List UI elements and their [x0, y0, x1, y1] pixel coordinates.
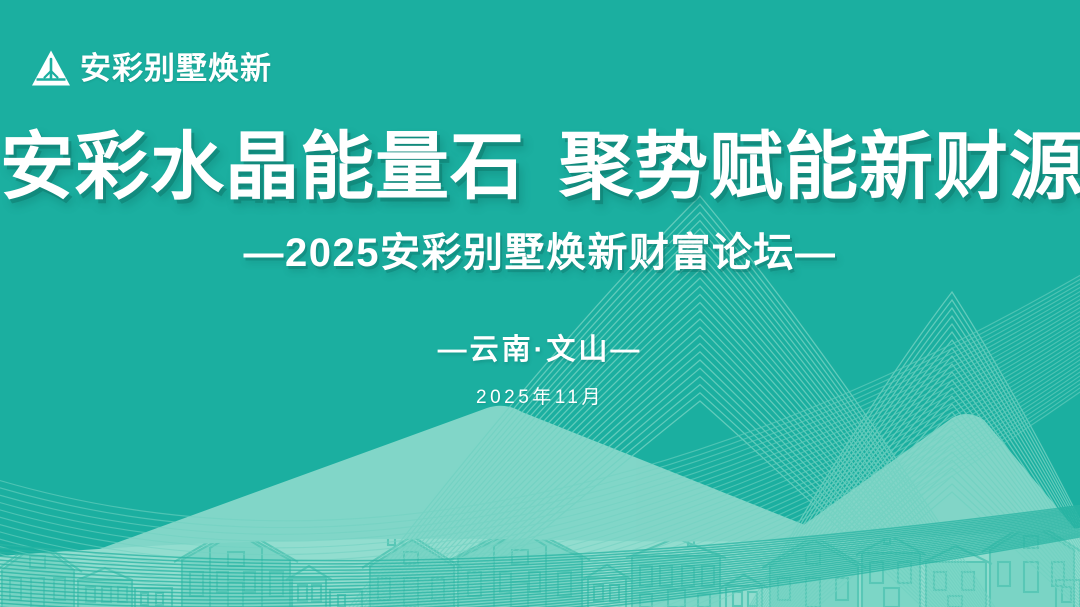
page-title: 安彩水晶能量石聚势赋能新财源	[0, 128, 1080, 206]
solid-mountain-shapes	[0, 406, 1080, 607]
brand-logo-text: 安彩别墅焕新	[80, 53, 272, 84]
bottom-light-band	[0, 528, 1080, 607]
poster-date: 2025年11月	[0, 382, 1080, 409]
brand-logo[interactable]: 安彩别墅焕新	[31, 49, 272, 87]
house-silhouette	[1056, 580, 1080, 607]
triangle-mountain-mark-icon	[31, 49, 71, 87]
house-silhouette	[582, 565, 632, 607]
house-silhouette	[920, 546, 992, 607]
headline-part-1: 安彩水晶能量石	[0, 125, 525, 208]
house-silhouette	[0, 533, 82, 607]
house-silhouette	[174, 524, 298, 607]
house-silhouette	[78, 568, 172, 607]
band-arc-lines	[0, 500, 1080, 607]
headline-part-2: 聚势赋能新财源	[559, 125, 1080, 208]
house-silhouette	[762, 536, 866, 607]
house-silhouettes	[0, 514, 1080, 607]
event-poster: 安彩别墅焕新 安彩水晶能量石聚势赋能新财源 —2025安彩别墅焕新财富论坛— —…	[0, 0, 1080, 607]
house-silhouette	[856, 532, 926, 607]
house-silhouette	[982, 514, 1080, 607]
center-mountain-shape	[0, 406, 1010, 607]
house-silhouette	[450, 524, 590, 607]
house-silhouette	[362, 533, 462, 607]
house-silhouette	[626, 534, 726, 607]
poster-location: —云南·文山—	[0, 326, 1080, 368]
right-mountain-shape	[690, 414, 1080, 607]
house-silhouette	[286, 566, 362, 607]
poster-subtitle: —2025安彩别墅焕新财富论坛—	[0, 220, 1080, 278]
house-silhouette	[720, 575, 768, 607]
